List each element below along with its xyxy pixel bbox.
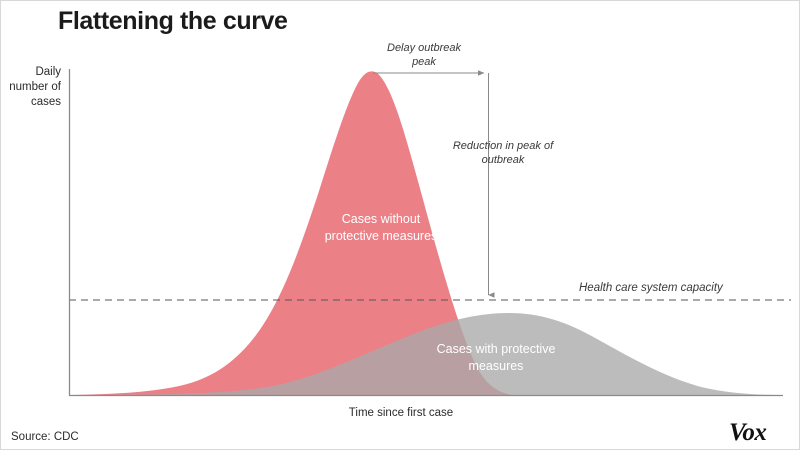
y-axis-label: Daily number of cases: [1, 65, 61, 110]
chart-page: Flattening the curve: [0, 0, 800, 450]
label-cases-with-protective-measures: Cases with protective measures: [406, 341, 586, 375]
y-axis-label-line-3: cases: [1, 95, 61, 110]
annotation-delay-line-2: peak: [339, 55, 509, 69]
annotation-health-care-capacity: Health care system capacity: [579, 281, 789, 295]
annotation-delay-outbreak-peak: Delay outbreak peak: [339, 41, 509, 69]
annotation-delay-line-1: Delay outbreak: [339, 41, 509, 55]
y-axis-label-line-2: number of: [1, 80, 61, 95]
label-cases-without-protective-measures: Cases without protective measures: [291, 211, 471, 245]
y-axis-label-line-1: Daily: [1, 65, 61, 80]
annotation-reduction-line-1: Reduction in peak of: [438, 139, 568, 153]
annotation-reduction-line-2: outbreak: [438, 153, 568, 167]
x-axis-label: Time since first case: [1, 407, 800, 419]
label-without-line-2: protective measures: [291, 228, 471, 245]
label-without-line-1: Cases without: [291, 211, 471, 228]
label-with-line-2: measures: [406, 358, 586, 375]
label-with-line-1: Cases with protective: [406, 341, 586, 358]
annotation-reduction-in-peak: Reduction in peak of outbreak: [438, 139, 568, 167]
vox-logo: Vox: [729, 419, 766, 447]
source-credit: Source: CDC: [11, 431, 79, 443]
